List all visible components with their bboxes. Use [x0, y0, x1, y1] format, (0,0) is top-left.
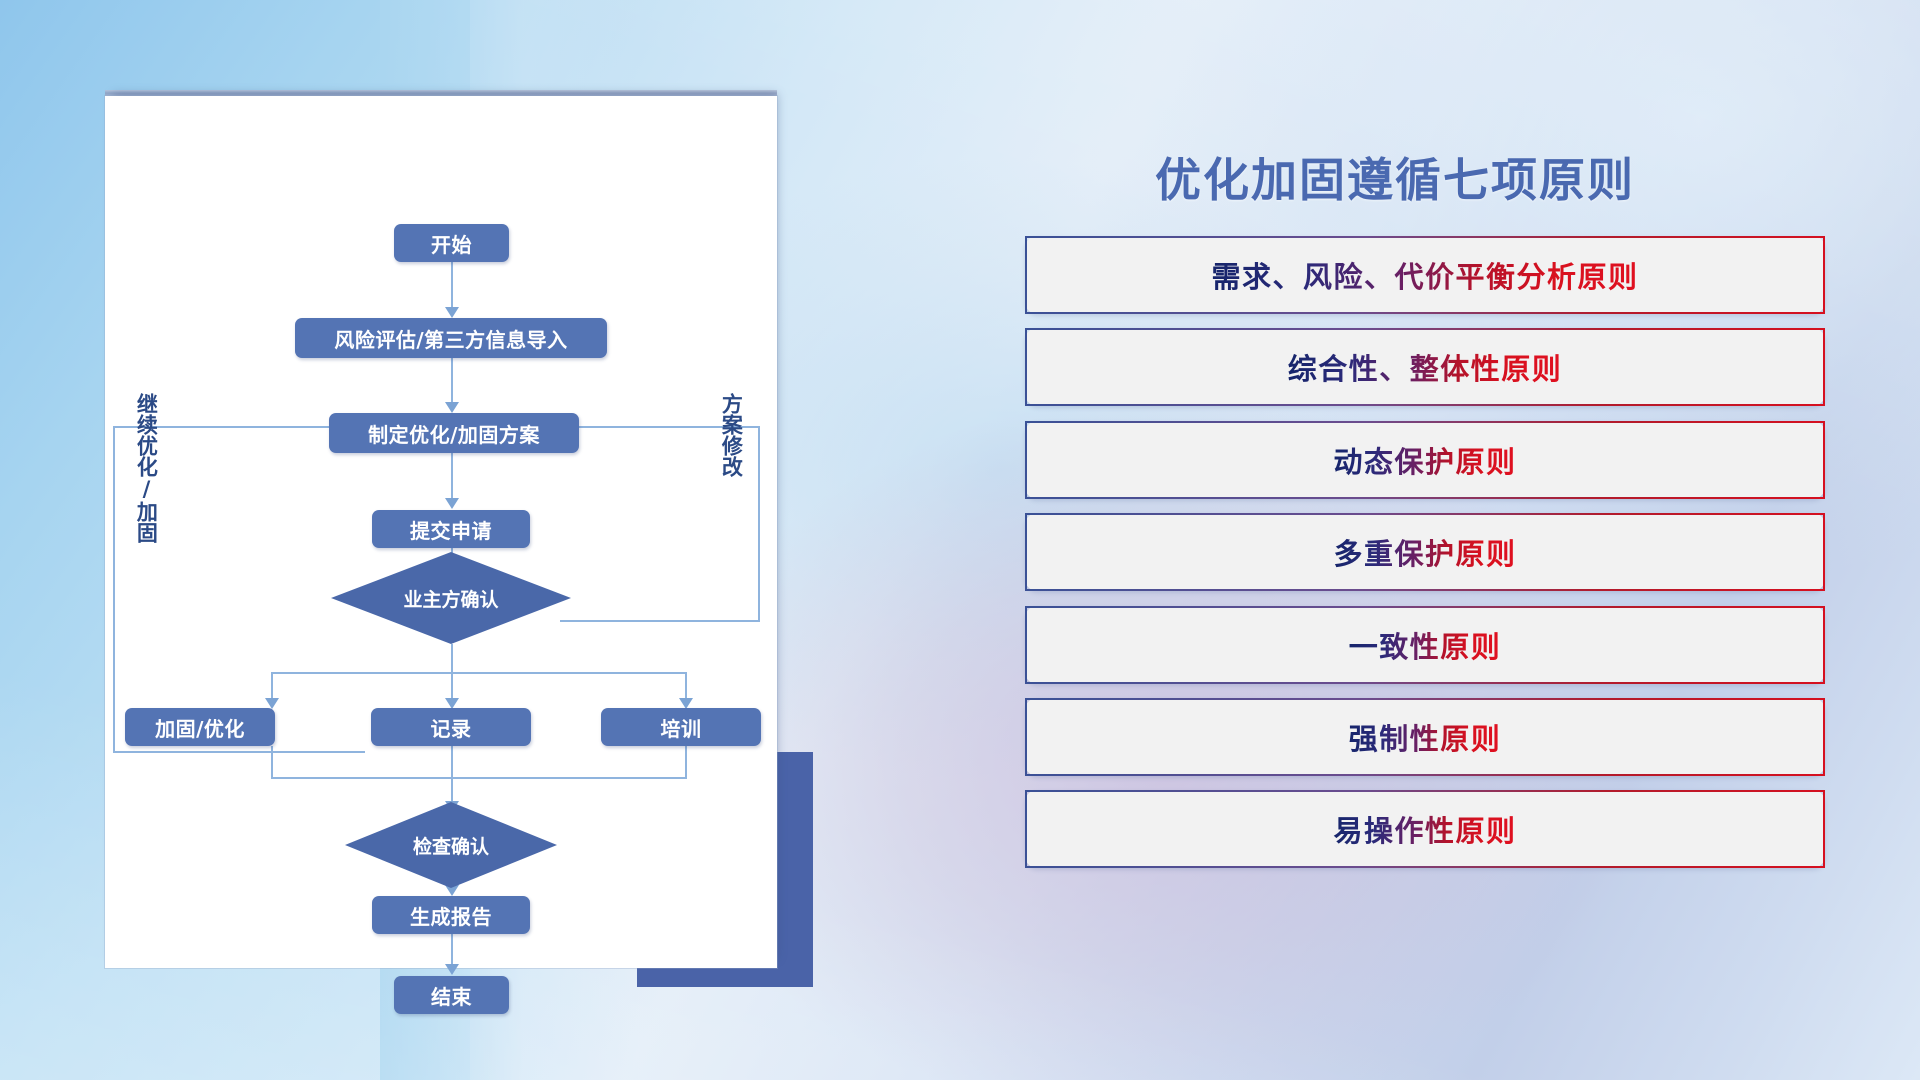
- flow-node-record-label: 记录: [431, 713, 472, 742]
- flow-node-training-label: 培训: [661, 713, 702, 742]
- flow-node-owner-confirm-label: 业主方确认: [331, 552, 571, 644]
- principle-label: 多重保护原则: [1333, 531, 1516, 573]
- flow-node-report[interactable]: 生成报告: [372, 896, 530, 934]
- connector-right-loop-vertical: [758, 426, 760, 622]
- arrow-plan-submit: [445, 498, 459, 509]
- flow-node-submit-label: 提交申请: [410, 515, 492, 544]
- list-item[interactable]: 易操作性原则: [1025, 790, 1825, 868]
- principle-label: 动态保护原则: [1333, 439, 1516, 481]
- connector-branch-bus: [271, 672, 686, 674]
- edge-label-right-loop: 方案修改: [720, 393, 741, 513]
- connector-merge-bus: [271, 777, 686, 779]
- flow-node-start[interactable]: 开始: [394, 224, 509, 262]
- principle-label: 易操作性原则: [1333, 808, 1516, 850]
- connector-report-end: [451, 934, 453, 968]
- list-item[interactable]: 动态保护原则: [1025, 421, 1825, 499]
- connector-right-loop-bottom: [560, 620, 760, 622]
- flow-node-risk-assessment-label: 风险评估/第三方信息导入: [334, 324, 567, 353]
- flow-node-reinforce[interactable]: 加固/优化: [125, 708, 275, 746]
- connector-left-loop-bottom: [113, 751, 365, 753]
- flow-node-reinforce-label: 加固/优化: [155, 713, 245, 742]
- connector-merge-right: [685, 746, 687, 779]
- flow-node-training[interactable]: 培训: [601, 708, 761, 746]
- edge-label-left-loop: 继续优化/加固: [135, 393, 156, 553]
- flow-node-owner-confirm[interactable]: 业主方确认: [331, 552, 571, 644]
- connector-merge-mid: [451, 746, 453, 779]
- flow-node-start-label: 开始: [431, 229, 472, 258]
- connector-plan-submit: [451, 452, 453, 502]
- flow-node-plan-label: 制定优化/加固方案: [368, 419, 540, 448]
- flow-node-submit[interactable]: 提交申请: [372, 510, 530, 548]
- connector-owner-down: [451, 644, 453, 674]
- flow-node-record[interactable]: 记录: [371, 708, 531, 746]
- connector-merge-left: [271, 746, 273, 779]
- principle-label: 综合性、整体性原则: [1288, 346, 1563, 388]
- arrow-report-end: [445, 964, 459, 975]
- list-item[interactable]: 强制性原则: [1025, 698, 1825, 776]
- flow-node-risk-assessment[interactable]: 风险评估/第三方信息导入: [295, 318, 607, 358]
- connector-left-loop-vertical: [113, 426, 115, 752]
- list-item[interactable]: 综合性、整体性原则: [1025, 328, 1825, 406]
- principle-label: 需求、风险、代价平衡分析原则: [1211, 254, 1638, 296]
- flow-node-end-label: 结束: [431, 981, 472, 1010]
- list-item[interactable]: 需求、风险、代价平衡分析原则: [1025, 236, 1825, 314]
- flowchart-card: 开始 风险评估/第三方信息导入 制定优化/加固方案 提交申请 业主方确认 加固/…: [105, 96, 777, 968]
- flow-node-check-confirm[interactable]: 检查确认: [345, 802, 557, 888]
- flow-node-report-label: 生成报告: [410, 901, 492, 930]
- list-item[interactable]: 多重保护原则: [1025, 513, 1825, 591]
- connector-start-risk: [451, 261, 453, 311]
- principle-label: 一致性原则: [1349, 624, 1502, 666]
- list-item[interactable]: 一致性原则: [1025, 606, 1825, 684]
- connector-risk-plan: [451, 357, 453, 406]
- page-title: 优化加固遵循七项原则: [1155, 144, 1635, 210]
- arrow-risk-plan: [445, 402, 459, 413]
- principles-list: 需求、风险、代价平衡分析原则 综合性、整体性原则 动态保护原则 多重保护原则 一…: [1025, 236, 1825, 883]
- principle-label: 强制性原则: [1349, 716, 1502, 758]
- flow-node-end[interactable]: 结束: [394, 976, 509, 1014]
- flow-node-plan[interactable]: 制定优化/加固方案: [329, 413, 579, 453]
- flow-node-check-confirm-label: 检查确认: [345, 802, 557, 888]
- arrow-start-risk: [445, 307, 459, 318]
